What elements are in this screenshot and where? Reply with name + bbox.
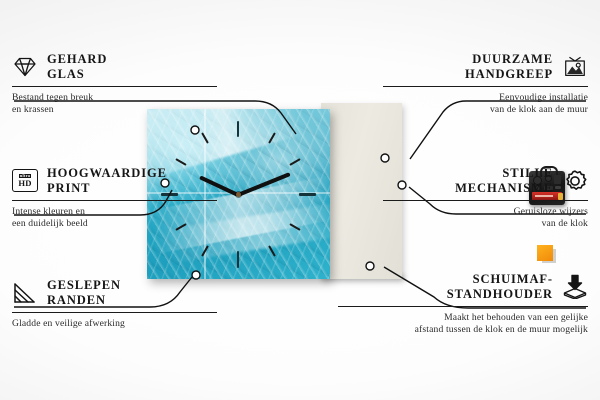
divider (383, 200, 588, 201)
feature-title: GEHARDGLAS (47, 52, 107, 82)
feature-header: GEHARDGLAS (12, 52, 217, 82)
node-duurzame-handgreep (381, 154, 389, 162)
feature-description: Maakt het behouden van een gelijkeafstan… (338, 312, 588, 337)
ultra-hd-bottom-text: HD (18, 179, 31, 188)
feature-description: Gladde en veilige afwerking (12, 318, 217, 331)
feature-header: SCHUIMAF-STANDHOUDER (338, 272, 588, 302)
divider (12, 200, 217, 201)
feature-stille-mechanisme[interactable]: STILLEMECHANISME Geruisloze wijzersvan d… (383, 166, 588, 231)
feature-header: ultra HD HOOGWAARDIGEPRINT (12, 166, 217, 196)
feature-title: GESLEPENRANDEN (47, 278, 121, 308)
feature-description: Eenvoudige installatievan de klok aan de… (383, 92, 588, 117)
feature-geslepen-randen[interactable]: GESLEPENRANDEN Gladde en veilige afwerki… (12, 278, 217, 330)
feature-gehard-glas[interactable]: GEHARDGLAS Bestand tegen breuken krassen (12, 52, 217, 117)
feature-description: Intense kleuren eneen duidelijk beeld (12, 206, 217, 231)
divider (383, 86, 588, 87)
picture-frame-hanger-icon (562, 55, 588, 79)
ultra-hd-icon: ultra HD (12, 169, 38, 193)
node-schuimafstandhouder (366, 262, 374, 270)
diamond-icon (12, 55, 38, 79)
feature-schuimafstandhouder[interactable]: SCHUIMAF-STANDHOUDER Maakt het behouden … (338, 272, 588, 337)
feature-header: STILLEMECHANISME (383, 166, 588, 196)
feature-hoogwaardige-print[interactable]: ultra HD HOOGWAARDIGEPRINT Intense kleur… (12, 166, 217, 231)
gear-icon (562, 169, 588, 193)
infographic-canvas: GEHARDGLAS Bestand tegen breuken krassen… (0, 0, 600, 400)
feature-duurzame-handgreep[interactable]: DUURZAMEHANDGREEP Eenvoudige installatie… (383, 52, 588, 117)
divider (12, 312, 217, 313)
feature-header: GESLEPENRANDEN (12, 278, 217, 308)
feature-title: STILLEMECHANISME (455, 166, 553, 196)
feature-title: DUURZAMEHANDGREEP (465, 52, 553, 82)
feature-description: Bestand tegen breuken krassen (12, 92, 217, 117)
feature-title: HOOGWAARDIGEPRINT (47, 166, 167, 196)
feature-header: DUURZAMEHANDGREEP (383, 52, 588, 82)
press-down-pad-icon (562, 275, 588, 299)
divider (338, 306, 588, 307)
divider (12, 86, 217, 87)
beveled-edge-icon (12, 281, 38, 305)
node-gehard-glas (191, 126, 199, 134)
feature-description: Geruisloze wijzersvan de klok (383, 206, 588, 231)
feature-title: SCHUIMAF-STANDHOUDER (447, 272, 553, 302)
